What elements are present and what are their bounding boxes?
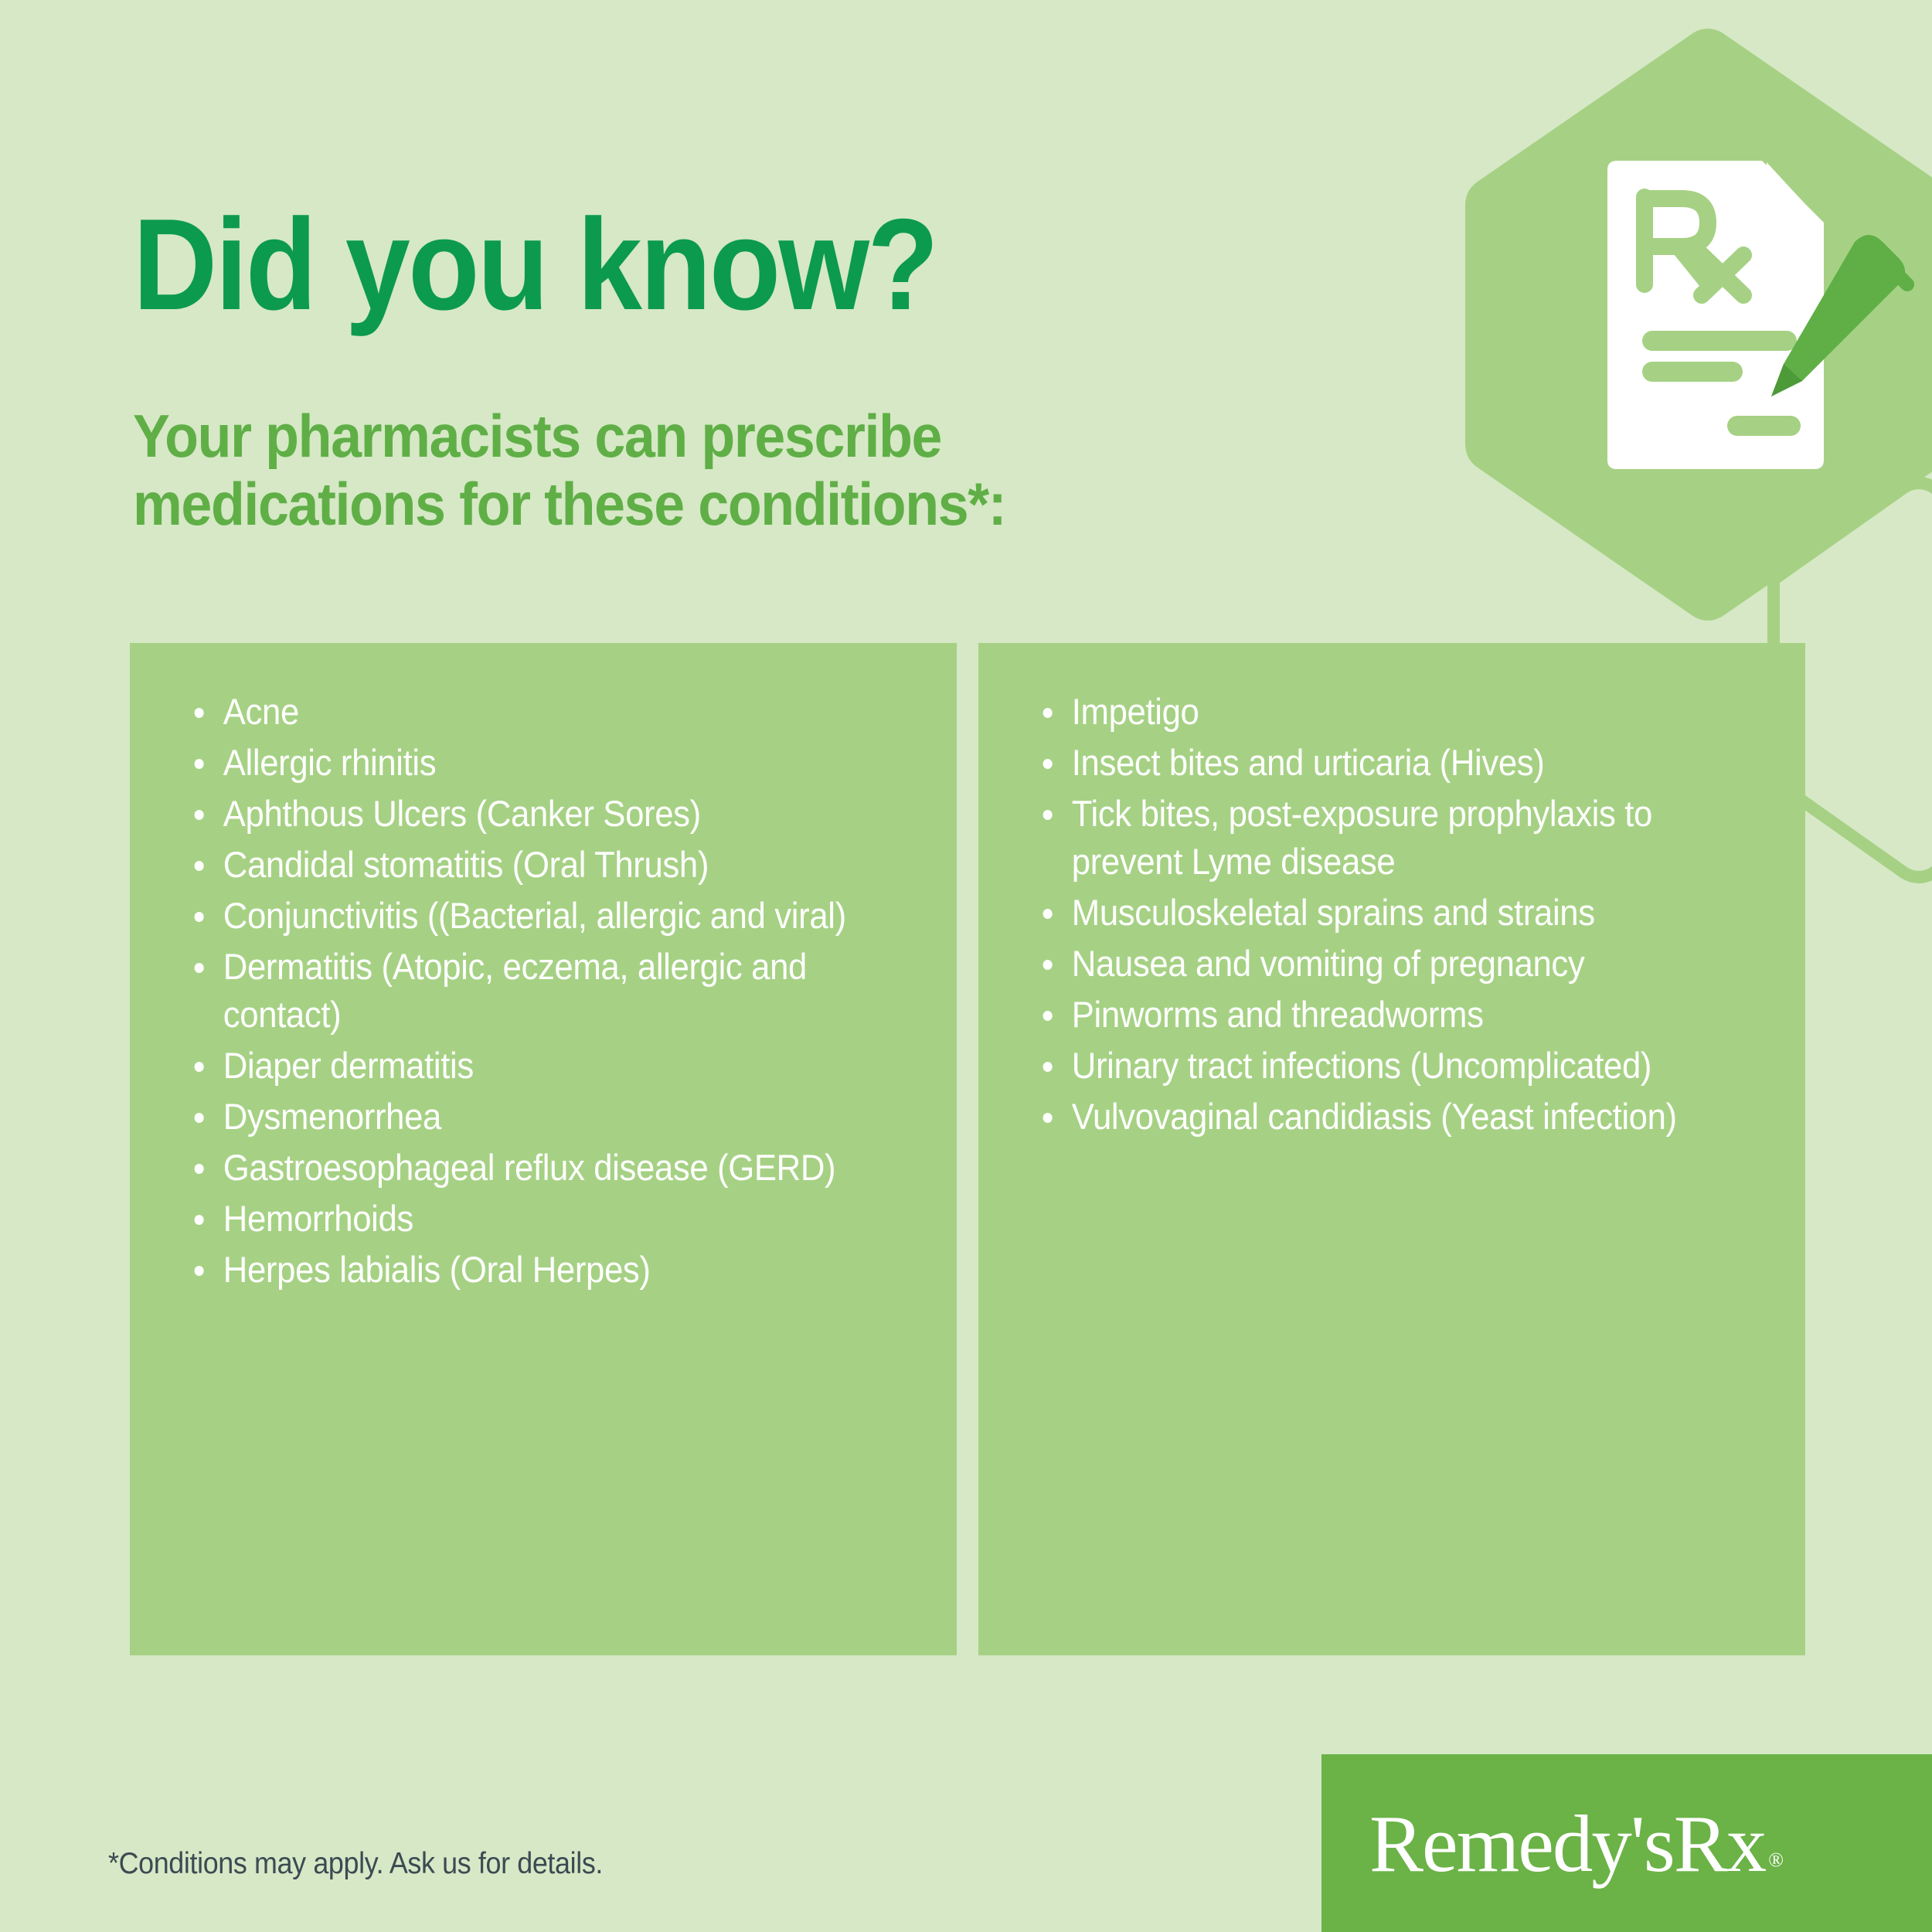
page-title: Did you know?: [133, 199, 937, 329]
infographic-poster: Did you know? Your pharmacists can presc…: [0, 0, 1932, 1932]
list-item: Allergic rhinitis: [190, 739, 874, 787]
list-item: Tick bites, post-exposure prophylaxis to…: [1039, 790, 1723, 886]
subtitle-line-1: Your pharmacists can prescribe: [133, 402, 1005, 470]
logo-wordmark: Remedy'sRx®: [1369, 1803, 1782, 1884]
rx-prescription-document-icon: [1453, 23, 1932, 626]
list-item: Gastroesophageal reflux disease (GERD): [190, 1144, 874, 1192]
list-item: Acne: [190, 688, 874, 736]
logo-name: Remedy'sRx: [1369, 1798, 1765, 1889]
list-item: Pinworms and threadworms: [1039, 991, 1723, 1039]
list-item: Insect bites and urticaria (Hives): [1039, 739, 1723, 787]
list-item: Nausea and vomiting of pregnancy: [1039, 940, 1723, 988]
list-item: Diaper dermatitis: [190, 1042, 874, 1090]
subtitle-line-2: medications for these conditions*:: [133, 470, 1005, 538]
list-item: Dysmenorrhea: [190, 1093, 874, 1141]
list-item: Aphthous Ulcers (Canker Sores): [190, 790, 874, 838]
brand-logo: Remedy'sRx®: [1321, 1754, 1932, 1932]
conditions-panel-right: Impetigo Insect bites and urticaria (Hiv…: [978, 643, 1805, 1655]
list-item: Impetigo: [1039, 688, 1723, 736]
conditions-list-right: Impetigo Insect bites and urticaria (Hiv…: [1039, 688, 1774, 1141]
list-item: Vulvovaginal candidiasis (Yeast infectio…: [1039, 1093, 1723, 1141]
list-item: Conjunctivitis ((Bacterial, allergic and…: [190, 892, 874, 940]
list-item: Hemorrhoids: [190, 1195, 874, 1243]
list-item: Urinary tract infections (Uncomplicated): [1039, 1042, 1723, 1090]
conditions-panel-left: Acne Allergic rhinitis Aphthous Ulcers (…: [130, 643, 957, 1655]
list-item: Candidal stomatitis (Oral Thrush): [190, 841, 874, 889]
list-item: Musculoskeletal sprains and strains: [1039, 889, 1723, 937]
conditions-list-left: Acne Allergic rhinitis Aphthous Ulcers (…: [190, 688, 926, 1294]
list-item: Herpes labialis (Oral Herpes): [190, 1246, 874, 1294]
rx-icon-hexagon: [1453, 23, 1932, 626]
registered-trademark-icon: ®: [1768, 1849, 1782, 1871]
page-subtitle: Your pharmacists can prescribe medicatio…: [133, 402, 1005, 538]
footnote-text: *Conditions may apply. Ask us for detail…: [108, 1847, 603, 1881]
list-item: Dermatitis (Atopic, eczema, allergic and…: [190, 943, 874, 1039]
